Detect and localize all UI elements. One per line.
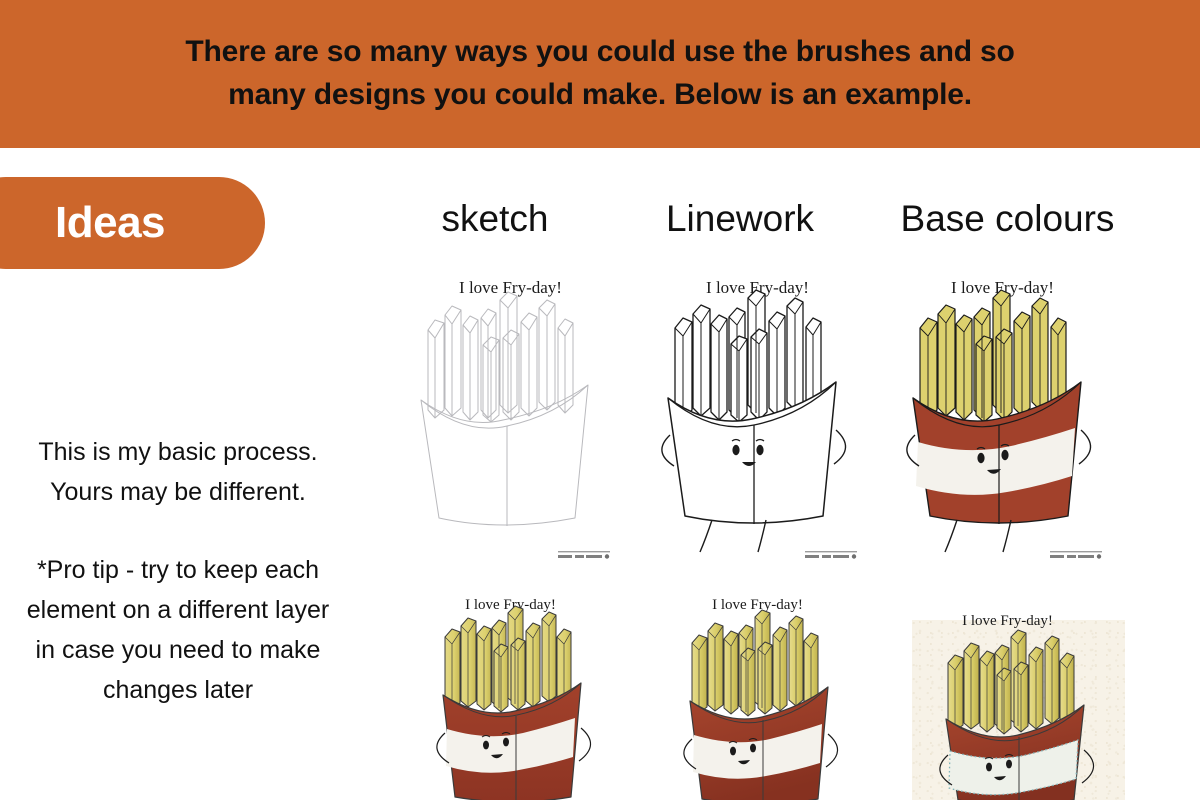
column-heading-linework: Linework — [645, 198, 835, 240]
pro-tip-paragraph: *Pro tip - try to keep each element on a… — [18, 550, 338, 710]
artwork-cell-final: I love Fry-day! — [890, 585, 1125, 800]
ideas-badge-label: Ideas — [55, 198, 165, 248]
fries-final-illustration — [890, 585, 1125, 800]
fries-refined-illustration — [650, 585, 865, 800]
artist-signature-watermark — [803, 549, 859, 564]
header-banner: There are so many ways you could use the… — [0, 0, 1200, 148]
artwork-cell-base-colours: I love Fry-day! — [895, 270, 1110, 570]
fries-sketch-illustration — [403, 270, 618, 570]
ideas-badge: Ideas — [0, 177, 265, 269]
artist-signature-watermark — [1048, 549, 1104, 564]
fries-base-colours-illustration — [895, 270, 1110, 570]
banner-text: There are so many ways you could use the… — [150, 31, 1050, 116]
poster-page: There are so many ways you could use the… — [0, 0, 1200, 800]
artist-signature-watermark — [556, 549, 612, 564]
artwork-cell-linework: I love Fry-day! — [650, 270, 865, 570]
artwork-cell-shading: I love Fry-day! — [403, 585, 618, 800]
column-heading-sketch: sketch — [400, 198, 590, 240]
left-text-column: This is my basic process. Yours may be d… — [18, 432, 338, 710]
column-heading-base-colours: Base colours — [885, 198, 1130, 240]
fries-linework-illustration — [650, 270, 865, 570]
artwork-cell-refined: I love Fry-day! — [650, 585, 865, 800]
process-paragraph: This is my basic process. Yours may be d… — [18, 432, 338, 512]
artwork-cell-sketch: I love Fry-day! — [403, 270, 618, 570]
fries-shading-illustration — [403, 585, 618, 800]
